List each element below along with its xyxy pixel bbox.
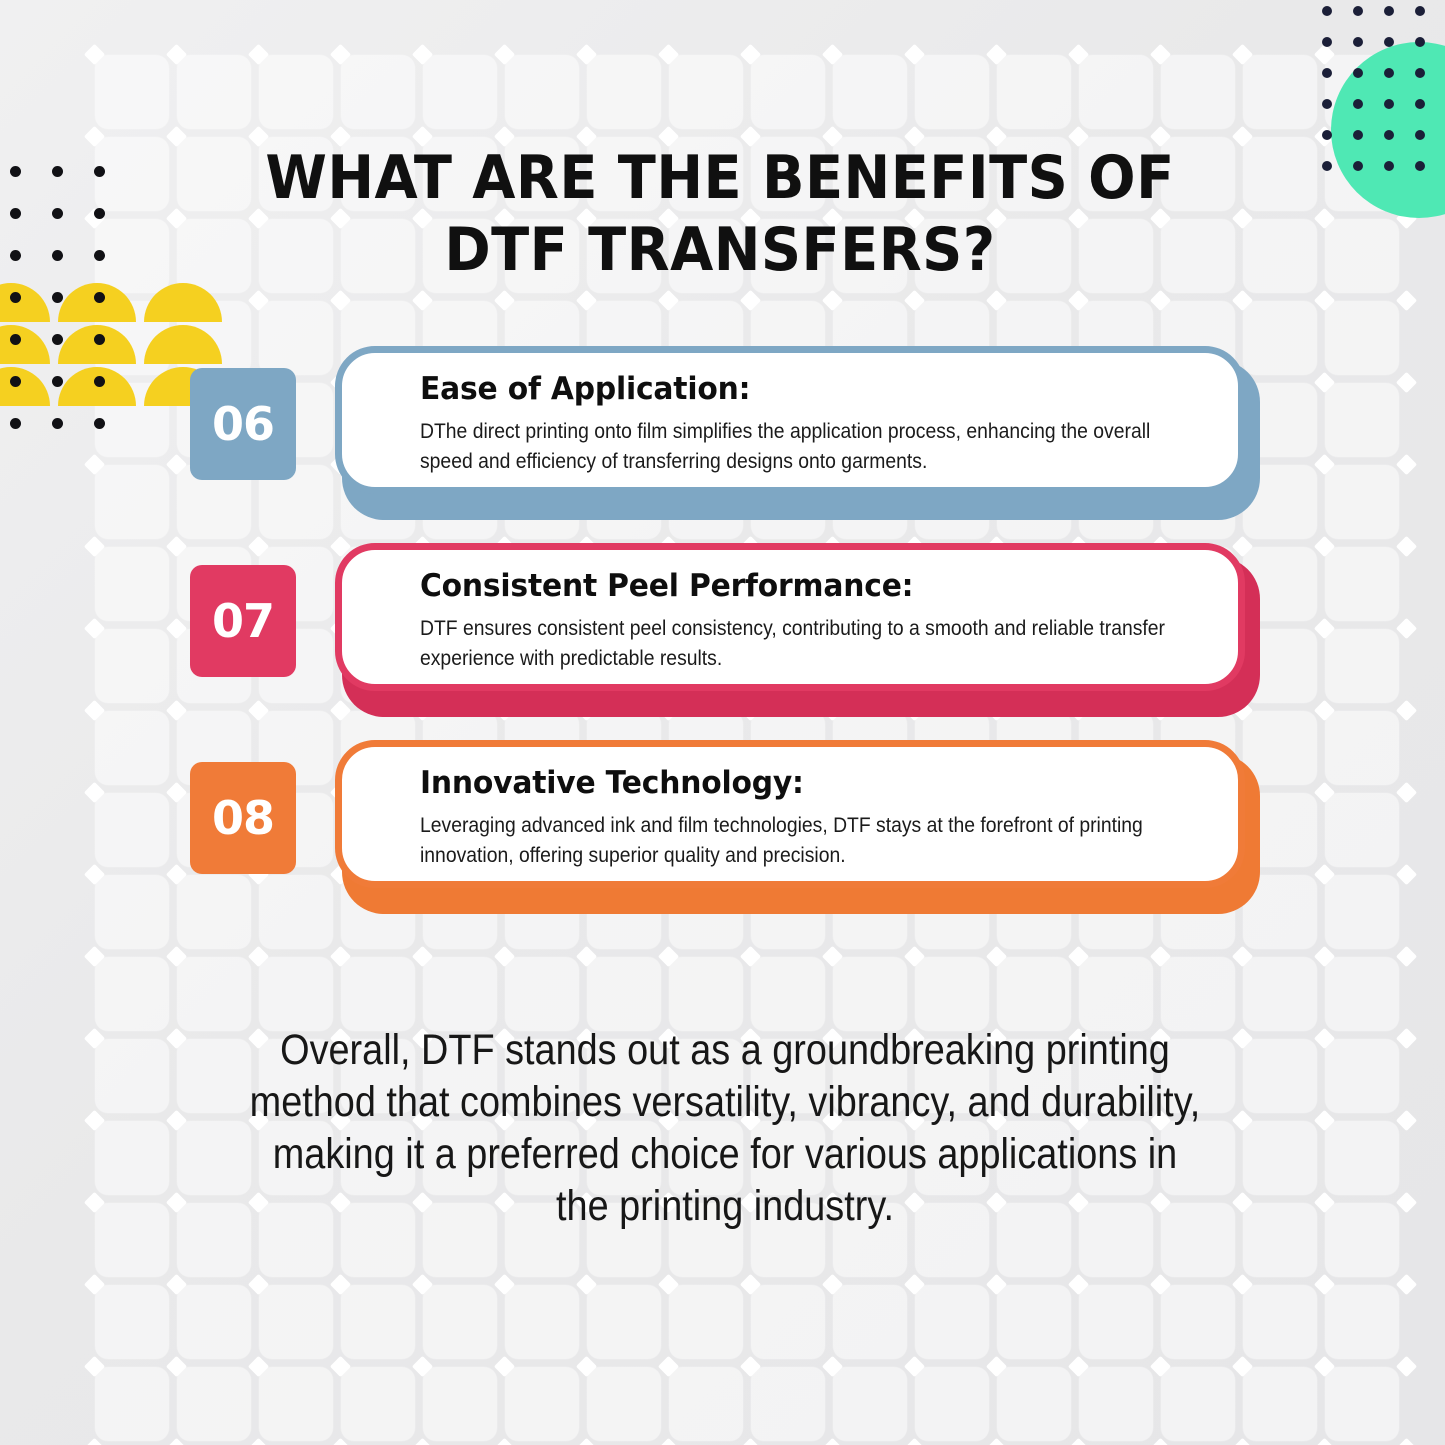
grid-tile — [915, 1367, 989, 1441]
grid-diamond — [84, 454, 105, 475]
grid-diamond — [986, 1356, 1007, 1377]
grid-diamond — [494, 1438, 515, 1445]
grid-tile — [505, 1367, 579, 1441]
grid-diamond — [1314, 700, 1335, 721]
grid-diamond — [1150, 946, 1171, 967]
grid-diamond — [412, 1438, 433, 1445]
grid-tile — [1325, 957, 1399, 1031]
grid-tile — [587, 1285, 661, 1359]
grid-tile — [259, 957, 333, 1031]
grid-tile — [1325, 301, 1399, 375]
grid-tile — [1325, 547, 1399, 621]
grid-diamond — [1232, 1192, 1253, 1213]
yellow-semicircle — [0, 367, 50, 406]
grid-diamond — [1068, 946, 1089, 967]
grid-diamond — [84, 782, 105, 803]
yellow-semicircle — [0, 283, 50, 322]
decor-dot — [52, 166, 63, 177]
grid-diamond — [166, 1438, 187, 1445]
grid-tile — [95, 1203, 169, 1277]
grid-diamond — [1396, 1028, 1417, 1049]
grid-tile — [423, 55, 497, 129]
grid-tile — [177, 1285, 251, 1359]
grid-tile — [95, 547, 169, 621]
decor-dot — [1353, 161, 1363, 171]
decor-dot — [10, 166, 21, 177]
grid-diamond — [1314, 1192, 1335, 1213]
grid-diamond — [740, 946, 761, 967]
grid-tile — [1325, 711, 1399, 785]
grid-tile — [341, 1367, 415, 1441]
badge-number-07: 07 — [190, 565, 296, 677]
grid-diamond — [166, 618, 187, 639]
grid-diamond — [1396, 290, 1417, 311]
grid-diamond — [248, 290, 269, 311]
grid-tile — [505, 1285, 579, 1359]
grid-tile — [997, 1367, 1071, 1441]
grid-diamond — [658, 946, 679, 967]
grid-tile — [915, 1285, 989, 1359]
grid-diamond — [412, 1356, 433, 1377]
decor-dot — [94, 292, 105, 303]
grid-tile — [1325, 465, 1399, 539]
grid-tile — [833, 957, 907, 1031]
decor-dot — [1415, 37, 1425, 47]
grid-tile — [95, 793, 169, 867]
grid-diamond — [1314, 372, 1335, 393]
grid-diamond — [576, 290, 597, 311]
grid-diamond — [1314, 536, 1335, 557]
grid-tile — [1161, 1285, 1235, 1359]
grid-diamond — [1232, 44, 1253, 65]
grid-diamond — [166, 208, 187, 229]
grid-tile — [177, 1039, 251, 1113]
grid-tile — [423, 957, 497, 1031]
grid-tile — [1161, 1367, 1235, 1441]
badge-number-06: 06 — [190, 368, 296, 480]
grid-diamond — [822, 1356, 843, 1377]
grid-tile — [95, 957, 169, 1031]
grid-diamond — [740, 1356, 761, 1377]
grid-diamond — [658, 1274, 679, 1295]
grid-tile — [669, 1367, 743, 1441]
decor-dot — [1353, 99, 1363, 109]
grid-tile — [1325, 793, 1399, 867]
decor-dot — [1384, 99, 1394, 109]
grid-tile — [95, 629, 169, 703]
grid-tile — [1243, 1121, 1317, 1195]
grid-diamond — [1396, 1192, 1417, 1213]
grid-diamond — [740, 1274, 761, 1295]
benefit-card-06[interactable]: Ease of Application: DThe direct printin… — [335, 346, 1245, 494]
card-heading-06: Ease of Application: — [420, 369, 1173, 409]
yellow-semicircle — [144, 283, 222, 322]
grid-diamond — [576, 1274, 597, 1295]
decor-dot — [94, 250, 105, 261]
grid-diamond — [904, 1356, 925, 1377]
grid-tile — [505, 957, 579, 1031]
decor-dot — [1322, 6, 1332, 16]
grid-diamond — [1232, 208, 1253, 229]
grid-diamond — [1232, 1028, 1253, 1049]
grid-tile — [1243, 55, 1317, 129]
grid-tile — [997, 957, 1071, 1031]
grid-tile — [95, 1039, 169, 1113]
grid-diamond — [248, 1274, 269, 1295]
decor-dot — [1415, 161, 1425, 171]
grid-tile — [751, 1285, 825, 1359]
grid-tile — [587, 957, 661, 1031]
grid-diamond — [986, 1274, 1007, 1295]
card-heading-08: Innovative Technology: — [420, 763, 1173, 803]
decor-dot — [52, 292, 63, 303]
benefit-card-08[interactable]: Innovative Technology: Leveraging advanc… — [335, 740, 1245, 888]
grid-tile — [1325, 1285, 1399, 1359]
grid-diamond — [1396, 1274, 1417, 1295]
grid-diamond — [986, 946, 1007, 967]
grid-tile — [177, 957, 251, 1031]
grid-diamond — [1396, 454, 1417, 475]
grid-diamond — [166, 864, 187, 885]
decor-dot — [1415, 68, 1425, 78]
summary-paragraph: Overall, DTF stands out as a groundbreak… — [245, 1024, 1204, 1232]
grid-diamond — [740, 290, 761, 311]
grid-diamond — [1314, 1110, 1335, 1131]
grid-diamond — [84, 126, 105, 147]
grid-tile — [1243, 1285, 1317, 1359]
grid-tile — [1325, 1203, 1399, 1277]
grid-diamond — [1232, 1274, 1253, 1295]
grid-tile — [587, 1367, 661, 1441]
grid-tile — [1243, 1367, 1317, 1441]
grid-diamond — [1068, 1274, 1089, 1295]
grid-diamond — [1396, 372, 1417, 393]
grid-tile — [1325, 383, 1399, 457]
grid-tile — [833, 55, 907, 129]
decor-dot — [1415, 130, 1425, 140]
grid-diamond — [1232, 1110, 1253, 1131]
grid-diamond — [1068, 1438, 1089, 1445]
decor-dot — [10, 208, 21, 219]
grid-diamond — [658, 44, 679, 65]
grid-tile — [95, 465, 169, 539]
benefit-card-row: 06 Ease of Application: DThe direct prin… — [190, 342, 1265, 520]
grid-diamond — [248, 44, 269, 65]
grid-diamond — [84, 44, 105, 65]
grid-diamond — [1314, 454, 1335, 475]
grid-diamond — [248, 1356, 269, 1377]
grid-diamond — [166, 782, 187, 803]
grid-tile — [1325, 219, 1399, 293]
grid-diamond — [986, 44, 1007, 65]
grid-tile — [915, 957, 989, 1031]
grid-diamond — [1068, 44, 1089, 65]
grid-tile — [341, 55, 415, 129]
grid-diamond — [1314, 864, 1335, 885]
decor-dot — [1322, 37, 1332, 47]
decor-dot — [94, 334, 105, 345]
grid-diamond — [166, 1356, 187, 1377]
decor-dot — [94, 418, 105, 429]
grid-tile — [259, 1367, 333, 1441]
decor-dot — [94, 208, 105, 219]
grid-diamond — [1396, 536, 1417, 557]
grid-tile — [1243, 957, 1317, 1031]
decor-dot — [52, 208, 63, 219]
grid-diamond — [330, 946, 351, 967]
grid-tile — [1325, 629, 1399, 703]
benefit-card-row: 07 Consistent Peel Performance: DTF ensu… — [190, 539, 1265, 717]
grid-diamond — [166, 454, 187, 475]
decor-dot — [1322, 68, 1332, 78]
grid-tile — [423, 1367, 497, 1441]
grid-diamond — [1396, 1438, 1417, 1445]
grid-diamond — [658, 290, 679, 311]
benefit-card-07[interactable]: Consistent Peel Performance: DTF ensures… — [335, 543, 1245, 691]
grid-diamond — [740, 44, 761, 65]
grid-diamond — [822, 946, 843, 967]
grid-diamond — [1314, 1438, 1335, 1445]
decor-dot — [1415, 6, 1425, 16]
grid-tile — [95, 137, 169, 211]
grid-tile — [177, 1367, 251, 1441]
benefit-card-row: 08 Innovative Technology: Leveraging adv… — [190, 736, 1265, 914]
grid-diamond — [1232, 1438, 1253, 1445]
grid-tile — [1325, 1121, 1399, 1195]
grid-diamond — [166, 536, 187, 557]
grid-diamond — [330, 1274, 351, 1295]
grid-diamond — [84, 1192, 105, 1213]
grid-tile — [1243, 1039, 1317, 1113]
grid-tile — [177, 1121, 251, 1195]
grid-diamond — [166, 1274, 187, 1295]
grid-diamond — [84, 1438, 105, 1445]
grid-diamond — [84, 946, 105, 967]
grid-diamond — [904, 1274, 925, 1295]
grid-diamond — [1314, 208, 1335, 229]
decor-dot — [10, 376, 21, 387]
grid-tile — [505, 55, 579, 129]
decor-dot — [10, 250, 21, 261]
grid-diamond — [330, 44, 351, 65]
grid-diamond — [986, 290, 1007, 311]
grid-diamond — [84, 1110, 105, 1131]
grid-tile — [177, 55, 251, 129]
decor-dot — [10, 334, 21, 345]
grid-diamond — [1150, 44, 1171, 65]
grid-tile — [1243, 219, 1317, 293]
grid-diamond — [1232, 946, 1253, 967]
decor-dot — [1353, 37, 1363, 47]
grid-diamond — [494, 44, 515, 65]
grid-diamond — [412, 290, 433, 311]
grid-tile — [1079, 55, 1153, 129]
grid-tile — [177, 1203, 251, 1277]
grid-diamond — [1314, 1356, 1335, 1377]
decor-dot — [1384, 68, 1394, 78]
yellow-semicircle — [0, 325, 50, 364]
grid-tile — [341, 1285, 415, 1359]
grid-tile — [1079, 1285, 1153, 1359]
grid-diamond — [822, 1438, 843, 1445]
decor-dot — [1322, 99, 1332, 109]
grid-diamond — [84, 864, 105, 885]
grid-diamond — [166, 946, 187, 967]
grid-diamond — [822, 290, 843, 311]
decor-dot — [1353, 68, 1363, 78]
grid-tile — [1243, 137, 1317, 211]
grid-diamond — [1150, 1356, 1171, 1377]
grid-tile — [997, 1285, 1071, 1359]
grid-diamond — [904, 44, 925, 65]
grid-tile — [669, 55, 743, 129]
grid-tile — [95, 1367, 169, 1441]
grid-diamond — [166, 1192, 187, 1213]
grid-diamond — [248, 946, 269, 967]
grid-diamond — [166, 126, 187, 147]
card-heading-07: Consistent Peel Performance: — [420, 566, 1173, 606]
grid-diamond — [1232, 126, 1253, 147]
grid-diamond — [84, 536, 105, 557]
grid-diamond — [1314, 782, 1335, 803]
grid-tile — [833, 1367, 907, 1441]
grid-diamond — [330, 290, 351, 311]
decor-dot — [10, 418, 21, 429]
grid-diamond — [494, 1274, 515, 1295]
decor-dot — [1384, 130, 1394, 140]
grid-diamond — [576, 44, 597, 65]
grid-tile — [587, 55, 661, 129]
decor-dot — [1353, 6, 1363, 16]
grid-diamond — [740, 1438, 761, 1445]
grid-diamond — [1314, 1274, 1335, 1295]
grid-diamond — [658, 1438, 679, 1445]
grid-tile — [669, 1285, 743, 1359]
decor-dot — [1384, 37, 1394, 47]
grid-diamond — [1396, 946, 1417, 967]
grid-tile — [1325, 1367, 1399, 1441]
grid-diamond — [1396, 618, 1417, 639]
grid-diamond — [84, 618, 105, 639]
grid-diamond — [904, 290, 925, 311]
decor-dot — [1384, 161, 1394, 171]
grid-diamond — [1396, 1110, 1417, 1131]
decor-dot — [52, 250, 63, 261]
grid-diamond — [84, 1028, 105, 1049]
decor-dot — [1322, 130, 1332, 140]
grid-tile — [95, 875, 169, 949]
grid-diamond — [84, 700, 105, 721]
grid-tile — [1325, 875, 1399, 949]
grid-diamond — [84, 1274, 105, 1295]
decor-dot — [52, 376, 63, 387]
grid-tile — [1243, 1203, 1317, 1277]
grid-diamond — [904, 1438, 925, 1445]
grid-diamond — [658, 1356, 679, 1377]
grid-tile — [997, 55, 1071, 129]
grid-tile — [259, 1285, 333, 1359]
grid-diamond — [1068, 1356, 1089, 1377]
grid-tile — [1079, 957, 1153, 1031]
grid-tile — [423, 1285, 497, 1359]
decor-dot — [1353, 130, 1363, 140]
grid-tile — [915, 55, 989, 129]
grid-tile — [259, 55, 333, 129]
grid-diamond — [1396, 700, 1417, 721]
grid-tile — [95, 1121, 169, 1195]
grid-diamond — [576, 946, 597, 967]
grid-diamond — [1314, 44, 1335, 65]
grid-tile — [1161, 957, 1235, 1031]
grid-diamond — [330, 1438, 351, 1445]
grid-diamond — [1396, 782, 1417, 803]
grid-tile — [95, 711, 169, 785]
grid-diamond — [166, 700, 187, 721]
decor-dot — [52, 418, 63, 429]
grid-tile — [669, 957, 743, 1031]
grid-diamond — [576, 1438, 597, 1445]
grid-tile — [95, 219, 169, 293]
decor-dot — [1322, 161, 1332, 171]
grid-diamond — [822, 1274, 843, 1295]
grid-diamond — [1314, 290, 1335, 311]
grid-diamond — [412, 1274, 433, 1295]
card-body-08: Leveraging advanced ink and film technol… — [420, 810, 1203, 870]
grid-diamond — [1396, 1356, 1417, 1377]
grid-diamond — [248, 1438, 269, 1445]
grid-diamond — [412, 44, 433, 65]
card-body-06: DThe direct printing onto film simplifie… — [420, 416, 1203, 476]
grid-diamond — [1314, 946, 1335, 967]
decor-dot — [94, 376, 105, 387]
grid-tile — [95, 55, 169, 129]
decor-dot — [52, 334, 63, 345]
grid-diamond — [1150, 1438, 1171, 1445]
decor-dot — [94, 166, 105, 177]
decor-dot — [1415, 99, 1425, 109]
grid-diamond — [494, 946, 515, 967]
grid-tile — [751, 55, 825, 129]
grid-tile — [1161, 55, 1235, 129]
grid-tile — [751, 1367, 825, 1441]
grid-tile — [751, 957, 825, 1031]
grid-diamond — [822, 44, 843, 65]
grid-tile — [1325, 1039, 1399, 1113]
grid-tile — [341, 957, 415, 1031]
grid-diamond — [166, 1110, 187, 1131]
grid-diamond — [412, 946, 433, 967]
grid-diamond — [494, 1356, 515, 1377]
grid-diamond — [166, 44, 187, 65]
grid-diamond — [166, 1028, 187, 1049]
decor-dot — [1384, 6, 1394, 16]
grid-diamond — [1068, 290, 1089, 311]
card-body-07: DTF ensures consistent peel consistency,… — [420, 613, 1203, 673]
grid-diamond — [330, 1356, 351, 1377]
grid-tile — [833, 1285, 907, 1359]
grid-tile — [1079, 1367, 1153, 1441]
grid-diamond — [1232, 290, 1253, 311]
grid-diamond — [986, 1438, 1007, 1445]
grid-diamond — [1314, 618, 1335, 639]
page-title: WHAT ARE THE BENEFITS OF DTF TRANSFERS? — [213, 142, 1227, 286]
grid-diamond — [904, 946, 925, 967]
grid-diamond — [84, 1356, 105, 1377]
grid-diamond — [494, 290, 515, 311]
grid-diamond — [1232, 1356, 1253, 1377]
grid-diamond — [1314, 1028, 1335, 1049]
grid-diamond — [1150, 290, 1171, 311]
